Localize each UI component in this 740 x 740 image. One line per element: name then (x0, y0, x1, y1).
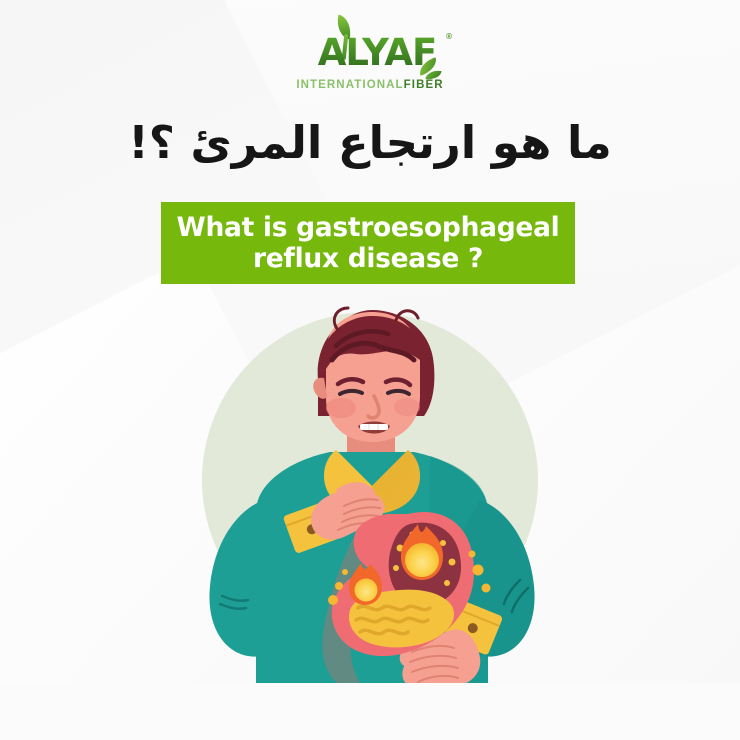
logo-tagline-secondary: FIBER (404, 79, 444, 91)
man-with-acid-reflux-illustration (0, 300, 740, 740)
logo-text: ALYAF (304, 34, 437, 71)
registered-mark-icon: ® (446, 32, 452, 41)
poster-canvas: ALYAF ® INTERNATIONALFIBER ما هو ارتجاع … (0, 0, 740, 740)
logo-wordmark: ALYAF (280, 26, 460, 78)
logo-mark: ALYAF ® (280, 26, 460, 78)
page-title-english: What is gastroesophageal reflux disease … (161, 212, 575, 274)
brand-logo: ALYAF ® INTERNATIONALFIBER (0, 26, 740, 91)
english-title-banner: What is gastroesophageal reflux disease … (161, 202, 575, 284)
logo-tagline: INTERNATIONALFIBER (296, 79, 443, 91)
logo-tagline-primary: INTERNATIONAL (296, 79, 403, 91)
page-title-arabic: ما هو ارتجاع المرئ ؟! (0, 115, 740, 171)
